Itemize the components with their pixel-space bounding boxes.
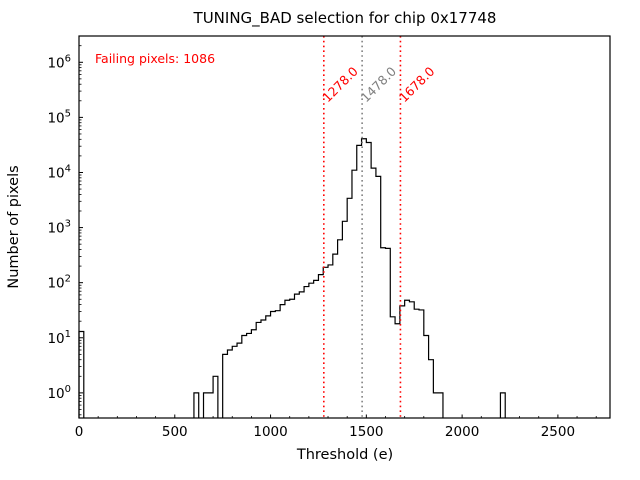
plot-area-background	[79, 36, 610, 418]
annotation-failing-pixels: Failing pixels: 1086	[95, 51, 215, 66]
x-axis-label: Threshold (e)	[296, 447, 393, 463]
plot-canvas	[79, 36, 610, 418]
chart-annotations: Failing pixels: 1086	[95, 51, 215, 66]
x-tick-label-1500: 1500	[349, 424, 383, 440]
histogram-chart: TUNING_BAD selection for chip 0x17748 12…	[0, 0, 640, 480]
x-tick-label-500: 500	[162, 424, 188, 440]
x-tick-label-1000: 1000	[253, 424, 287, 440]
x-tick-label-2000: 2000	[445, 424, 479, 440]
matplotlib-figure: TUNING_BAD selection for chip 0x17748 12…	[0, 0, 640, 480]
x-tick-label-0: 0	[75, 424, 84, 440]
y-axis-label: Number of pixels	[6, 165, 22, 288]
x-tick-label-2500: 2500	[541, 424, 575, 440]
chart-title: TUNING_BAD selection for chip 0x17748	[193, 9, 497, 28]
